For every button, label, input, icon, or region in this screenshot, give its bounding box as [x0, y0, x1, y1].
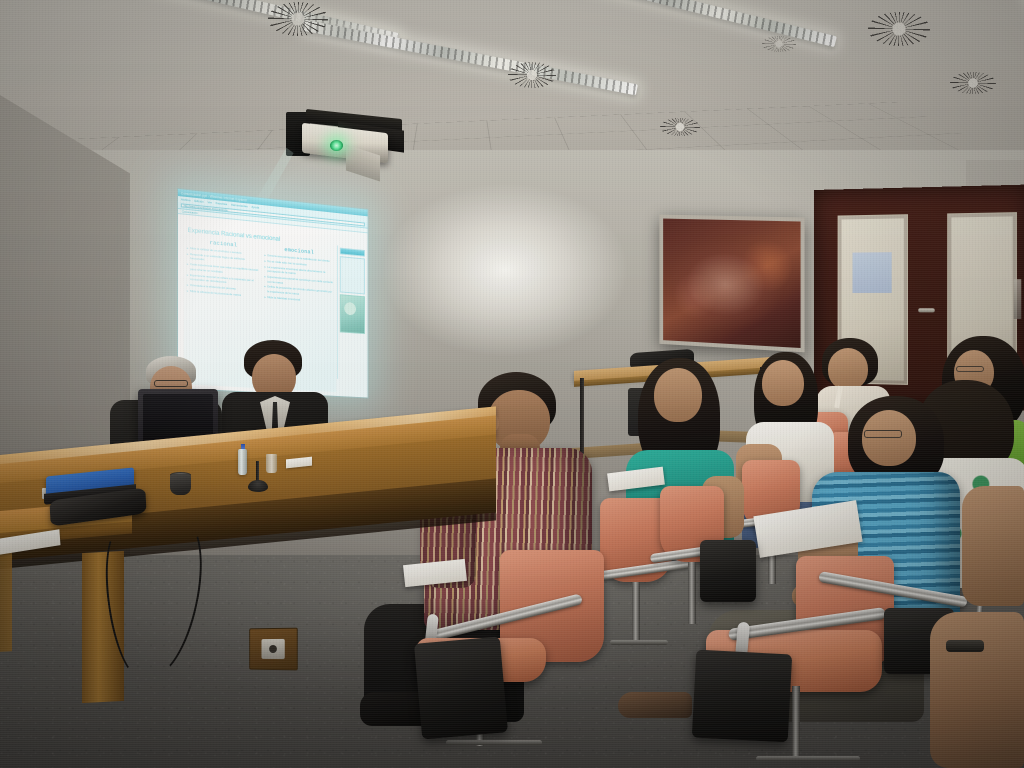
shoulder-bag: [700, 540, 756, 602]
menu-item-archivo[interactable]: Archivo: [181, 197, 191, 202]
shoulder-bag: [414, 636, 508, 739]
classroom-presentation-scene: Comunicacion.ppt - Windows Internet Expl…: [0, 0, 1024, 768]
door-notice-paper: [852, 252, 892, 292]
ceiling-projector: [286, 112, 410, 170]
bottle-body: [238, 449, 247, 475]
slide-side-panel: [337, 245, 367, 380]
projector-lens-glow: [330, 140, 343, 151]
menu-item-edicion[interactable]: Edición: [194, 199, 203, 204]
chair-post: [688, 562, 696, 624]
menu-item-ver[interactable]: Ver: [208, 200, 212, 204]
circular-air-diffuser: [950, 72, 996, 94]
side-panel-body: [340, 256, 365, 294]
shoulder-bag: [692, 650, 792, 743]
door-edge-strip: [1014, 279, 1022, 319]
slide-column-emocional: emocional Genera una percepción de la sa…: [264, 244, 334, 306]
table-leg: [0, 543, 12, 652]
circular-air-diffuser: [868, 12, 930, 46]
chair-post: [792, 686, 800, 760]
black-cup: [170, 474, 191, 495]
side-panel-header: [340, 248, 365, 257]
chair-foot: [756, 756, 860, 761]
head: [654, 368, 702, 422]
wristwatch: [946, 640, 984, 652]
chair-foot: [610, 640, 668, 645]
head: [862, 410, 916, 466]
microphone-base: [248, 480, 268, 492]
eyeglasses: [956, 366, 984, 372]
eyeglasses: [154, 380, 188, 387]
bullet-list-emocional: Genera una percepción de la satisfacción…: [264, 253, 334, 304]
fluorescent-strip-light: [302, 20, 638, 96]
chair-post: [632, 582, 640, 644]
bullet-list-racional: Mide la calidad de un producto o servici…: [187, 246, 260, 299]
circular-air-diffuser: [762, 36, 796, 52]
sandal: [618, 692, 692, 718]
attendee-partial-arm: [962, 486, 1024, 606]
abstract-painting: [659, 215, 804, 353]
door-handle[interactable]: [918, 308, 934, 312]
circular-air-diffuser: [660, 118, 700, 136]
outlet-socket[interactable]: [261, 639, 284, 659]
fluorescent-strip-light: [1001, 0, 1024, 51]
eyeglasses: [864, 430, 902, 438]
desk-microphone: [248, 462, 268, 492]
chair-foot: [446, 740, 542, 745]
slide-column-racional: racional Mide la calidad de un producto …: [187, 237, 260, 300]
circular-air-diffuser: [268, 2, 328, 36]
attendee-partial-leg: [930, 612, 1024, 768]
menu-item-ayuda[interactable]: Ayuda: [251, 205, 259, 210]
side-panel-photo: [340, 294, 365, 334]
circular-air-diffuser: [508, 62, 556, 88]
floor-power-outlet: [249, 628, 298, 671]
